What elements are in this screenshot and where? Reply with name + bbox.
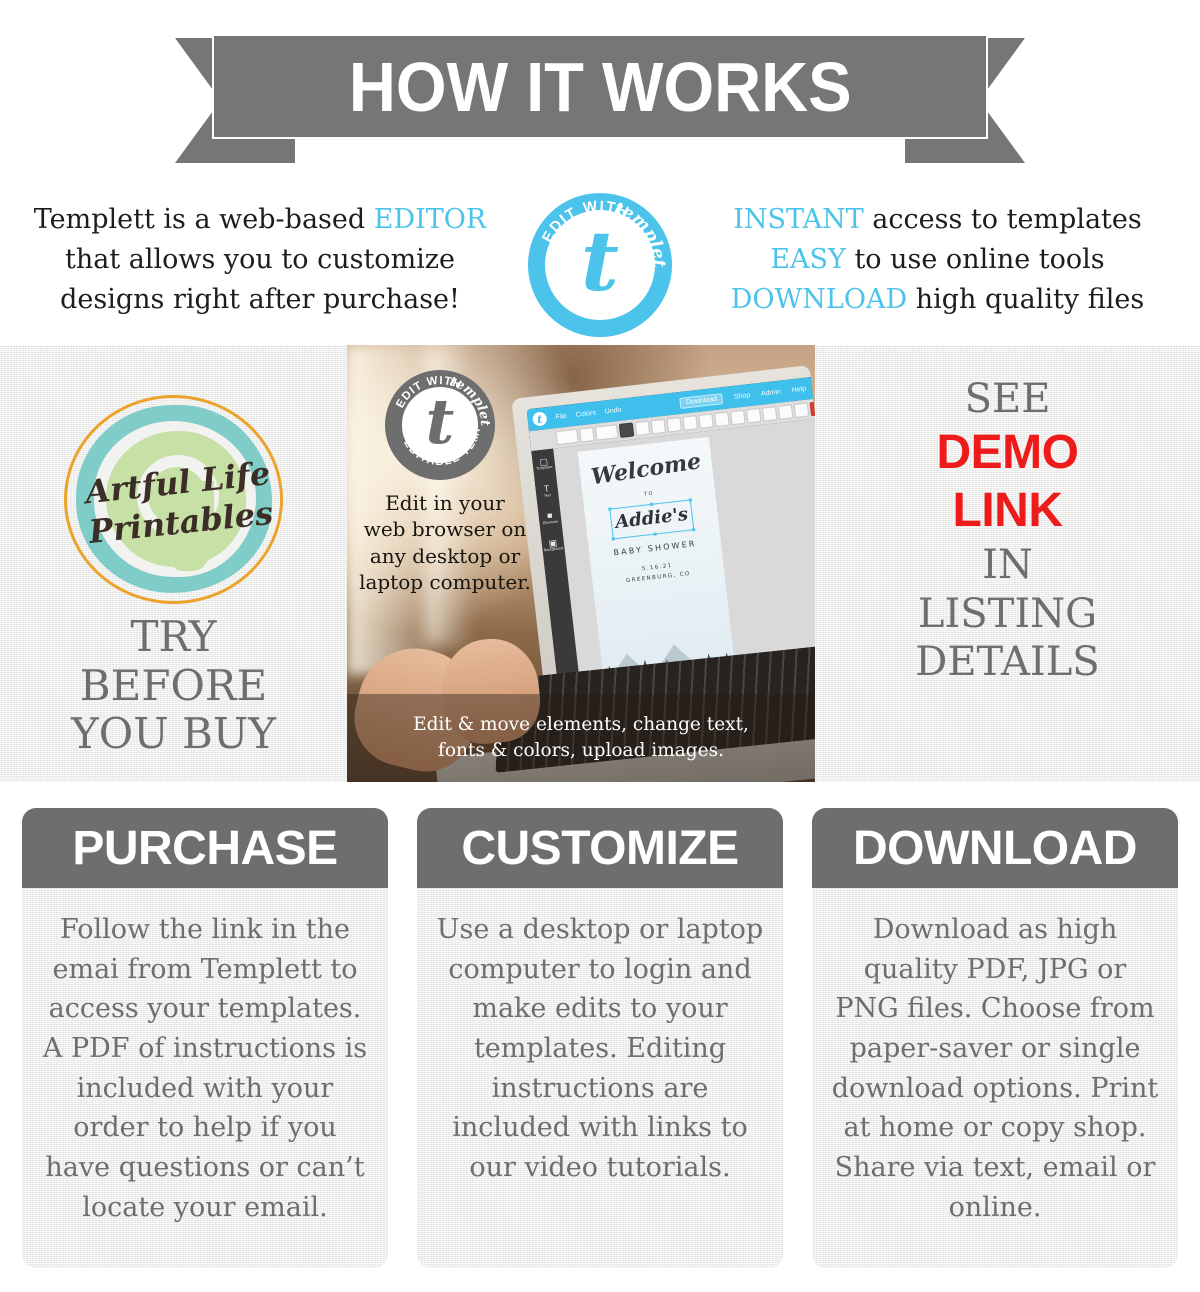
- seal-arc-text: EDIT WITH templett EDITABLE TEMPLATE: [528, 193, 672, 337]
- selection-handle-tc[interactable]: [650, 503, 653, 506]
- app-menu-admin[interactable]: Admin: [761, 388, 782, 397]
- app-menu-undo[interactable]: Undo: [604, 406, 621, 415]
- left-column: Artful Life Printables TRY BEFORE YOU BU…: [0, 345, 347, 782]
- try-line-1: TRY: [0, 613, 347, 662]
- sidebar-item-background[interactable]: ▣Background: [543, 538, 564, 553]
- photo-bottom-caption-line1: Edit & move elements, change text,: [413, 712, 749, 738]
- toolbar-font-select[interactable]: [555, 429, 578, 445]
- intro-left-line1-pre: Templett is a web-based: [34, 204, 374, 235]
- templett-badge-icon: t EDIT WITH templett EDITABLE TEMPLATE: [528, 193, 672, 337]
- selection-handle-bl[interactable]: [612, 537, 615, 540]
- app-download-button[interactable]: Download: [679, 393, 723, 409]
- selection-handle-br[interactable]: [692, 528, 695, 531]
- photo-bottom-caption-line2: fonts & colors, upload images.: [438, 738, 724, 764]
- card-download: DOWNLOAD Download as high quality PDF, J…: [812, 808, 1178, 1268]
- card-purchase-body: Follow the link in the emai from Templet…: [22, 888, 388, 1268]
- card-download-body: Download as high quality PDF, JPG or PNG…: [812, 888, 1178, 1268]
- invite-event-text[interactable]: BABY SHOWER: [589, 536, 721, 560]
- sidebar-label-text: Text: [544, 494, 551, 498]
- toolbar-layer-icon[interactable]: [762, 406, 777, 421]
- intro-left-line1-highlight: EDITOR: [374, 204, 487, 235]
- sidebar-item-templates[interactable]: ▢Templates: [535, 457, 553, 472]
- app-menu-file[interactable]: File: [555, 412, 567, 420]
- card-download-title: DOWNLOAD: [812, 808, 1178, 888]
- intro-right-line3: DOWNLOAD high quality files: [675, 280, 1200, 320]
- photo-seal-caption-line4: laptop computer.: [355, 569, 535, 595]
- toolbar-case-icon[interactable]: [730, 410, 745, 425]
- toolbar-line-height-icon[interactable]: [714, 412, 729, 427]
- brand-logo: Artful Life Printables: [62, 393, 287, 608]
- card-purchase-title: PURCHASE: [22, 808, 388, 888]
- intro-right-line1: INSTANT access to templates: [675, 200, 1200, 240]
- toolbar-italic-icon[interactable]: [651, 419, 666, 434]
- app-menu-shop[interactable]: Shop: [733, 392, 750, 401]
- app-menu-help[interactable]: Help: [791, 385, 806, 394]
- selection-handle-bc[interactable]: [653, 532, 656, 535]
- sidebar-label-background: Background: [544, 547, 563, 553]
- intro-right-line3-highlight: DOWNLOAD: [731, 284, 907, 315]
- sidebar-label-templates: Templates: [536, 466, 553, 472]
- app-menu-colors[interactable]: Colors: [575, 409, 596, 418]
- try-line-3: YOU BUY: [0, 710, 347, 759]
- selection-handle-tr[interactable]: [689, 498, 692, 501]
- sidebar-item-elements[interactable]: ■Elements: [542, 511, 558, 526]
- demo-line-listing: LISTING: [815, 590, 1200, 639]
- toolbar-underline-icon[interactable]: [666, 417, 681, 432]
- toolbar-align-icon[interactable]: [595, 424, 618, 440]
- try-before-you-buy-heading: TRY BEFORE YOU BUY: [0, 613, 347, 759]
- demo-line-in: IN: [815, 541, 1200, 590]
- demo-line-link: LINK: [815, 482, 1200, 541]
- page-title: HOW IT WORKS: [349, 52, 852, 122]
- intro-left-text: Templett is a web-based EDITOR that allo…: [0, 185, 520, 320]
- intro-right-line1-rest: access to templates: [864, 204, 1142, 235]
- card-purchase: PURCHASE Follow the link in the emai fro…: [22, 808, 388, 1268]
- intro-right-line3-rest: high quality files: [907, 284, 1144, 315]
- invite-name-selection-box[interactable]: Addie's: [609, 499, 694, 539]
- intro-left-line3: designs right after purchase!: [0, 280, 520, 320]
- see-demo-link-heading: SEE DEMO LINK IN LISTING DETAILS: [815, 375, 1200, 687]
- toolbar-bold-icon[interactable]: [635, 421, 650, 436]
- invite-name-text[interactable]: Addie's: [611, 503, 693, 533]
- intro-left-line2: that allows you to customize: [0, 240, 520, 280]
- card-customize: CUSTOMIZE Use a desktop or laptop comput…: [417, 808, 783, 1268]
- demo-line-demo: DEMO: [815, 424, 1200, 483]
- templett-badge-gray-icon: t EDIT WITH templett EDITABLE TEMPLATE: [385, 370, 495, 480]
- photo-seal-caption-line2: web browser on: [355, 516, 535, 542]
- toolbar-duplicate-icon[interactable]: [794, 403, 809, 418]
- intro-right-line1-highlight: INSTANT: [733, 204, 863, 235]
- seal-arc-text-gray: EDIT WITH templett EDITABLE TEMPLATE: [385, 370, 495, 480]
- card-customize-title: CUSTOMIZE: [417, 808, 783, 888]
- intro-right-line2-highlight: EASY: [770, 244, 846, 275]
- logo-script-text: Artful Life Printables: [62, 393, 287, 608]
- demo-line-see: SEE: [815, 375, 1200, 424]
- header-banner: HOW IT WORKS: [0, 0, 1200, 180]
- photo-seal-caption-line1: Edit in your: [355, 490, 535, 516]
- card-customize-body: Use a desktop or laptop computer to logi…: [417, 888, 783, 1268]
- toolbar-strikethrough-icon[interactable]: [682, 415, 697, 430]
- intro-right-text: INSTANT access to templates EASY to use …: [675, 185, 1200, 320]
- ribbon-body: HOW IT WORKS: [212, 34, 988, 139]
- app-logo-icon: t: [532, 411, 547, 426]
- intro-left-line1: Templett is a web-based EDITOR: [0, 200, 520, 240]
- middle-band: Artful Life Printables TRY BEFORE YOU BU…: [0, 345, 1200, 782]
- sidebar-item-text[interactable]: TText: [543, 484, 551, 498]
- toolbar-opacity-icon[interactable]: [746, 408, 761, 423]
- intro-right-line2-rest: to use online tools: [846, 244, 1105, 275]
- sidebar-label-elements: Elements: [543, 520, 558, 525]
- toolbar-color-swatch[interactable]: [619, 422, 634, 437]
- demo-line-details: DETAILS: [815, 638, 1200, 687]
- toolbar-letter-spacing-icon[interactable]: [698, 413, 713, 428]
- try-line-2: BEFORE: [0, 662, 347, 711]
- toolbar-font-size-icon[interactable]: [579, 427, 594, 442]
- laptop-photo-panel: t File Colors Undo Download Shop Admin H…: [347, 345, 815, 782]
- right-column: SEE DEMO LINK IN LISTING DETAILS: [815, 345, 1200, 782]
- photo-bottom-caption: Edit & move elements, change text, fonts…: [347, 694, 815, 782]
- selection-handle-tl[interactable]: [608, 507, 611, 510]
- toolbar-rotate-icon[interactable]: [778, 404, 793, 419]
- photo-seal-caption: Edit in your web browser on any desktop …: [355, 490, 535, 596]
- intro-right-line2: EASY to use online tools: [675, 240, 1200, 280]
- photo-seal-caption-line3: any desktop or: [355, 543, 535, 569]
- steps-card-row: PURCHASE Follow the link in the emai fro…: [0, 808, 1200, 1268]
